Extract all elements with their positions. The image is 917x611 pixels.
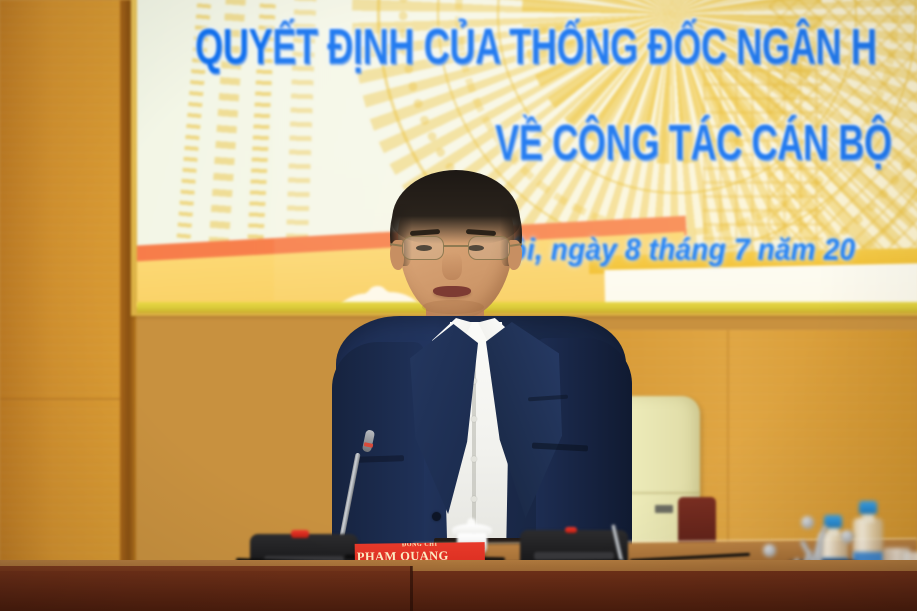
microphone-ball [801, 516, 814, 529]
slide-title-line-2: VỀ CÔNG TÁC CÁN BỘ [495, 116, 892, 172]
wall-seam [0, 398, 134, 400]
wall-seam-vertical [727, 330, 729, 545]
nose [442, 252, 462, 280]
mouth [433, 286, 471, 297]
lens-left [402, 236, 444, 260]
lens-right [468, 236, 510, 260]
table-panel-seam [410, 566, 413, 611]
nameplate-honorific: ĐỒNG CHÍ [402, 542, 438, 548]
slide-title-line-1: QUYẾT ĐỊNH CỦA THỐNG ĐỐC NGÂN H [195, 20, 876, 76]
microphone-ball [763, 544, 776, 557]
photo-scene: QUYẾT ĐỊNH CỦA THỐNG ĐỐC NGÂN H VỀ CÔNG … [0, 0, 917, 611]
chin-shadow [422, 300, 484, 314]
conference-unit-speaker-grille [534, 552, 614, 560]
chair-brand-tag [655, 505, 673, 513]
bottle-cap [859, 501, 877, 514]
conference-unit-mic-button[interactable] [565, 527, 577, 533]
shirt-button [471, 496, 477, 502]
microphone-ball [841, 530, 854, 543]
conference-unit-mic-button[interactable] [291, 530, 309, 538]
speaker-figure [330, 168, 630, 568]
shirt-button [471, 456, 477, 462]
glasses-bridge [443, 245, 469, 247]
shirt-button [471, 416, 477, 422]
wood-panel-wall-left [0, 0, 134, 567]
jacket-button [432, 512, 441, 521]
conference-table-front [0, 571, 917, 611]
white-band-right [604, 263, 917, 307]
